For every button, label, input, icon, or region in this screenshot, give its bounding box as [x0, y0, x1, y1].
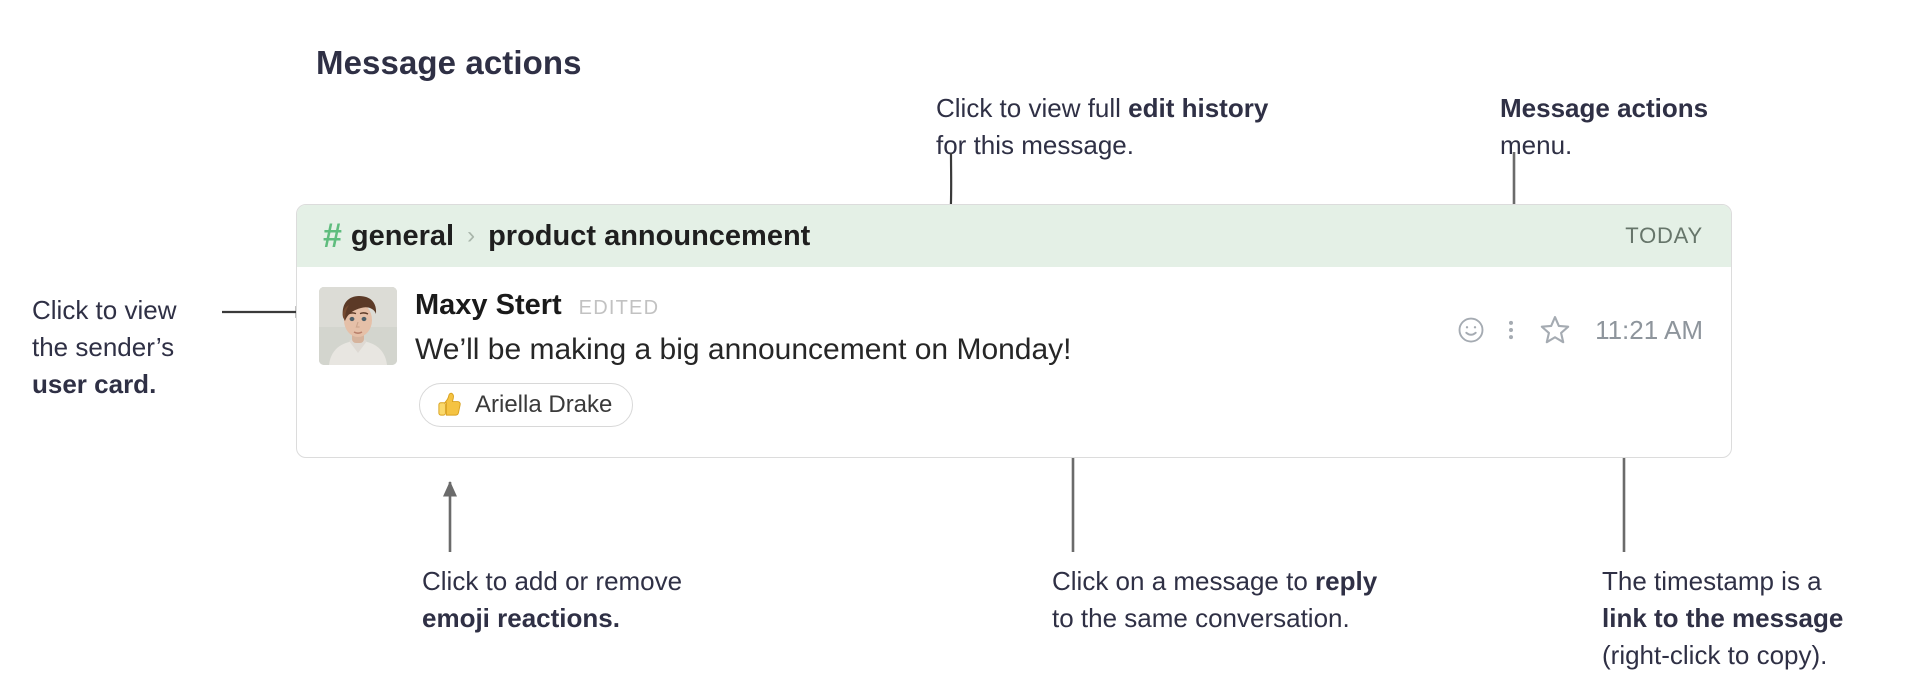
annotation-line: the sender’s [32, 329, 176, 366]
reaction-label: Ariella Drake [475, 391, 612, 419]
star-icon[interactable] [1529, 308, 1581, 352]
avatar-image [319, 287, 397, 365]
annotation-emphasis: user card. [32, 369, 156, 399]
message-row[interactable]: Maxy Stert EDITED We’ll be making a big … [297, 267, 1731, 369]
message-content: Maxy Stert EDITED We’ll be making a big … [415, 287, 1433, 369]
annotation-line: Click to view full edit history [936, 90, 1268, 127]
annotation-line: for this message. [936, 127, 1268, 164]
annotation-text: Click to view full [936, 93, 1128, 123]
annotation-text: Click on a message to [1052, 566, 1315, 596]
annotation-line: link to the message [1602, 600, 1843, 637]
annotation-reply: Click on a message to reply to the same … [1052, 563, 1377, 637]
annotation-line: The timestamp is a [1602, 563, 1843, 600]
avatar[interactable] [319, 287, 397, 365]
reactions-row: Ariella Drake [297, 369, 1731, 427]
sender-name[interactable]: Maxy Stert [415, 289, 562, 322]
message-actions-toolbar: 11:21 AM [1449, 287, 1703, 369]
annotation-edit-history: Click to view full edit history for this… [936, 90, 1268, 164]
annotation-line: (right-click to copy). [1602, 637, 1843, 674]
annotation-line: Click to view [32, 292, 176, 329]
star-outline-glyph [1538, 313, 1572, 347]
channel-name[interactable]: general [351, 220, 454, 253]
annotation-actions-menu: Message actions menu. [1500, 90, 1708, 164]
sender-line: Maxy Stert EDITED [415, 289, 1433, 322]
annotation-timestamp-link: The timestamp is a link to the message (… [1602, 563, 1843, 674]
annotation-line: Click on a message to reply [1052, 563, 1377, 600]
channel-header: # general › product announcement TODAY [297, 205, 1731, 267]
date-label: TODAY [1625, 223, 1703, 249]
edited-badge[interactable]: EDITED [579, 297, 660, 320]
hash-icon: # [323, 219, 341, 253]
annotation-emphasis: reply [1315, 566, 1377, 596]
message-actions-menu-icon[interactable] [1493, 308, 1529, 352]
annotation-line: to the same conversation. [1052, 600, 1377, 637]
annotation-user-card: Click to view the sender’s user card. [32, 292, 176, 403]
annotation-line: Message actions [1500, 90, 1708, 127]
thumbs-up-glyph [434, 390, 464, 420]
message-timestamp[interactable]: 11:21 AM [1595, 315, 1703, 346]
annotation-line: user card. [32, 366, 176, 403]
reaction-pill[interactable]: Ariella Drake [419, 383, 633, 427]
thumbs-up-icon [434, 390, 464, 420]
smiley-face-glyph [1456, 315, 1486, 345]
annotation-emphasis: emoji reactions. [422, 603, 620, 633]
annotation-line: emoji reactions. [422, 600, 682, 637]
annotation-line: menu. [1500, 127, 1708, 164]
chevron-right-icon: › [467, 224, 475, 248]
annotation-emoji-reactions: Click to add or remove emoji reactions. [422, 563, 682, 637]
annotation-emphasis: link to the message [1602, 603, 1843, 633]
annotation-emphasis: Message actions [1500, 93, 1708, 123]
annotation-emphasis: edit history [1128, 93, 1268, 123]
emoji-reaction-icon[interactable] [1449, 308, 1493, 352]
message-body[interactable]: We’ll be making a big announcement on Mo… [415, 331, 1433, 369]
topic-name[interactable]: product announcement [488, 220, 810, 253]
annotation-line: Click to add or remove [422, 563, 682, 600]
page-title: Message actions [316, 44, 582, 82]
kebab-dots-glyph [1498, 315, 1524, 345]
message-card: # general › product announcement TODAY [296, 204, 1732, 458]
